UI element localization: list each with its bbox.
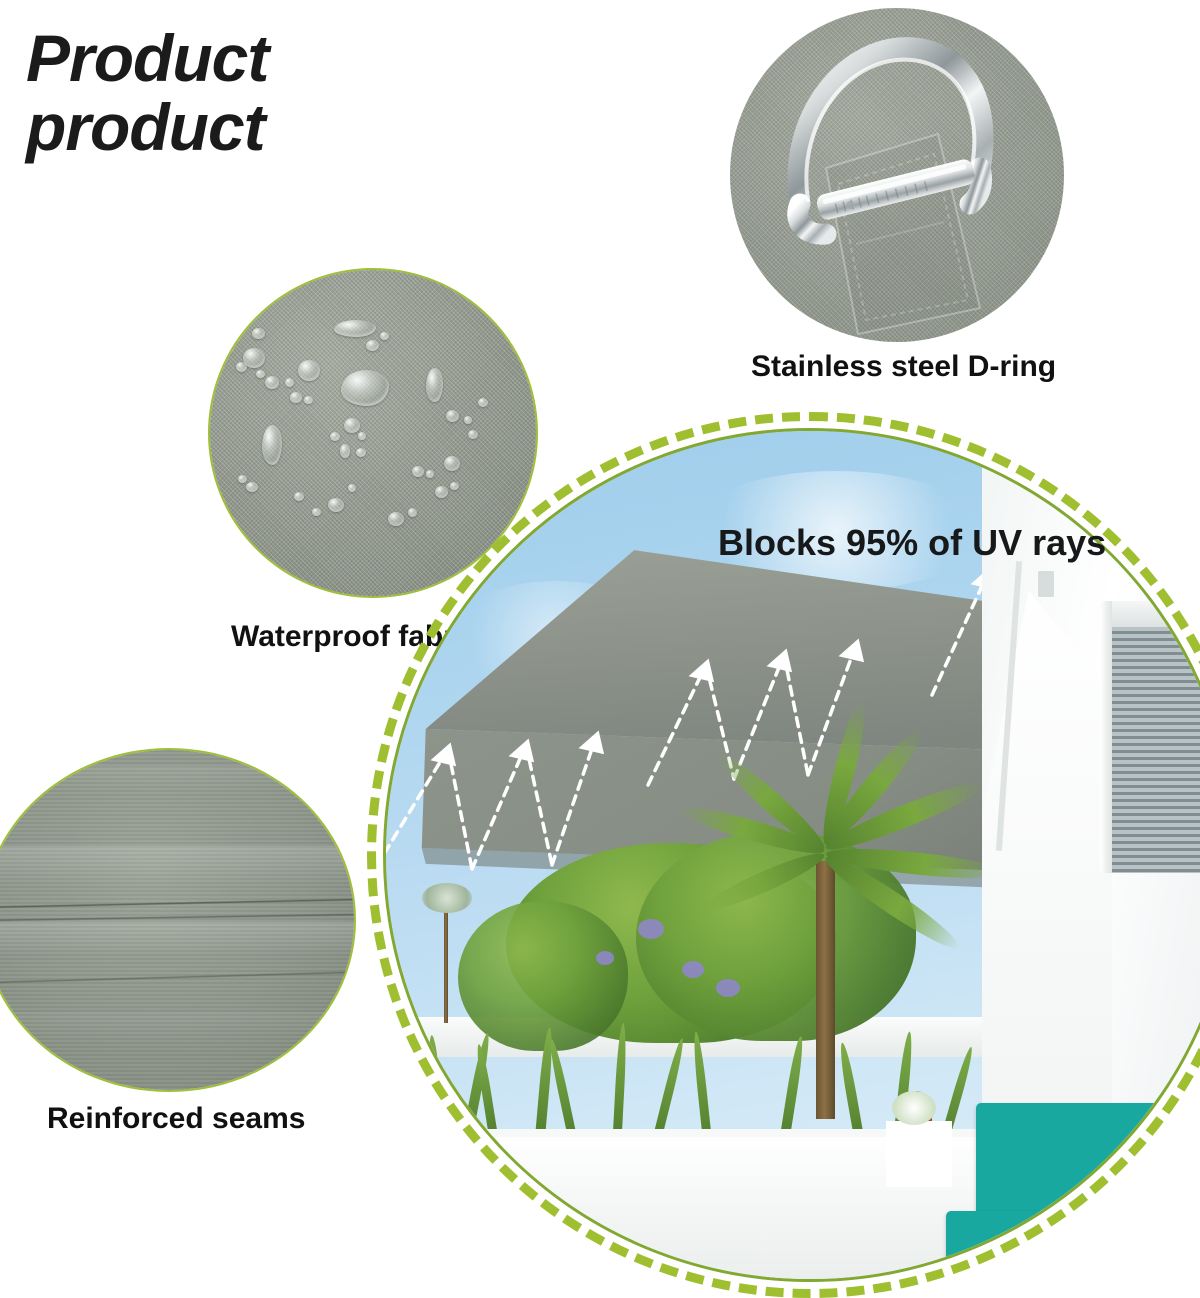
flower-cluster <box>682 961 704 978</box>
lounge-chair-back <box>976 1103 1172 1221</box>
palm-trunk <box>816 861 835 1119</box>
title-accent-bar <box>26 188 416 226</box>
tree-canopy <box>458 901 628 1051</box>
flower-cluster <box>638 919 664 939</box>
scene-caption-uv: Blocks 95% of UV rays <box>718 522 1106 564</box>
title-line-2: product <box>26 95 586 160</box>
page-title: Product product <box>26 26 586 159</box>
small-planter <box>886 1121 952 1187</box>
roller-shutter <box>1108 627 1200 873</box>
planter-flowers <box>892 1091 936 1125</box>
title-line-1: Product <box>26 26 586 91</box>
wall-lamp <box>1038 571 1054 597</box>
feature-caption-stainless-steel-d-ring: Stainless steel D-ring <box>751 350 1056 384</box>
feature-caption-reinforced-seams: Reinforced seams <box>47 1102 305 1136</box>
infographic-canvas: Product product <box>0 0 1200 1200</box>
feature-uv-protection-scene: Blocks 95% of UV rays <box>367 412 1200 1298</box>
lounge-chair-right <box>1186 1131 1200 1251</box>
seam-icon <box>0 748 356 1092</box>
d-ring-icon <box>730 8 1064 342</box>
palm-crown-far <box>422 883 472 913</box>
flower-cluster <box>596 951 614 965</box>
palm-trunk-far <box>444 903 448 1023</box>
shutter-frame <box>1100 601 1112 873</box>
lounge-chair-seat <box>946 1211 1176 1282</box>
flower-cluster <box>716 979 740 997</box>
